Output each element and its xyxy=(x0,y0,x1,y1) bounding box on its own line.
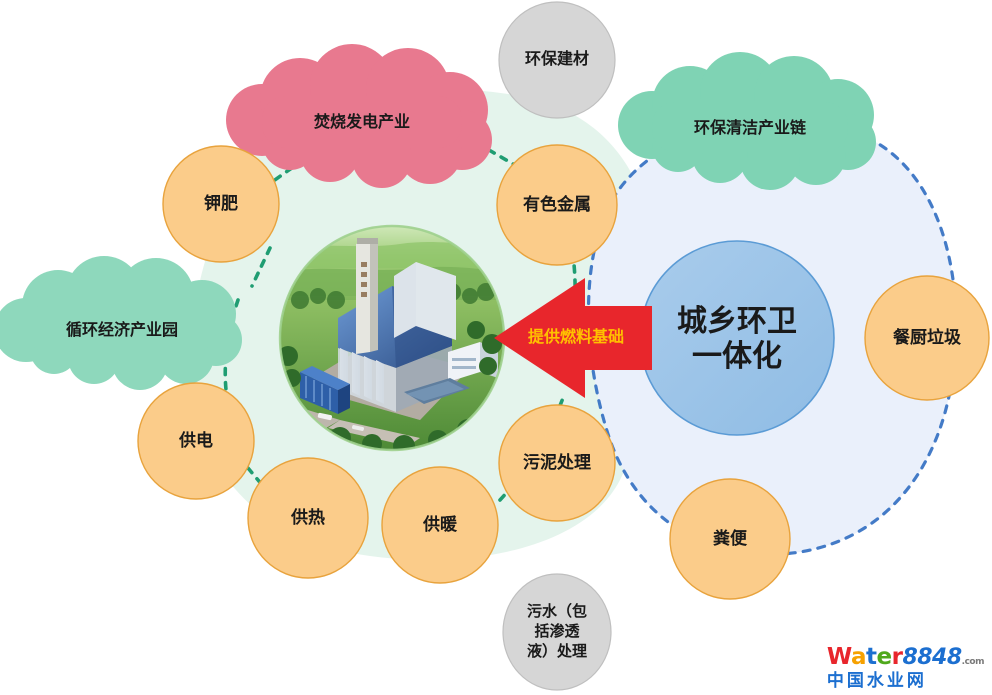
node-power-supply-shape[interactable] xyxy=(138,383,254,499)
node-sludge-treatment-shape[interactable] xyxy=(499,405,615,521)
logo-letter-r: r xyxy=(892,644,903,670)
logo-letter-a: a xyxy=(851,644,866,670)
center-node-shape[interactable] xyxy=(640,241,834,435)
logo-letter-t: t xyxy=(866,644,877,670)
diagram-canvas: 焚烧发电产业 环保清洁产业链 循环经济产业园 环保建材 污水（包 括渗透 液）处… xyxy=(0,0,992,695)
node-kitchen-waste-shape[interactable] xyxy=(865,276,989,400)
diagram-svg xyxy=(0,0,992,695)
node-potash-fertilizer-shape[interactable] xyxy=(163,146,279,262)
logo-letter-w: W xyxy=(827,644,851,670)
node-green-building-material-shape[interactable] xyxy=(499,2,615,118)
node-heating-shape[interactable] xyxy=(382,467,498,583)
node-nonferrous-metal-shape[interactable] xyxy=(497,145,617,265)
water8848-logo: Water8848.com 中国水业网 xyxy=(827,646,984,689)
logo-domain: .com xyxy=(962,657,984,667)
logo-letter-e: e xyxy=(876,644,891,670)
logo-chinese-name: 中国水业网 xyxy=(827,672,984,689)
node-wastewater-treatment-shape[interactable] xyxy=(503,574,611,690)
node-feces-shape[interactable] xyxy=(670,479,790,599)
logo-number: 8848 xyxy=(902,645,961,670)
logo-brand-row: Water8848.com xyxy=(827,646,984,669)
node-heat-supply-shape[interactable] xyxy=(248,458,368,578)
